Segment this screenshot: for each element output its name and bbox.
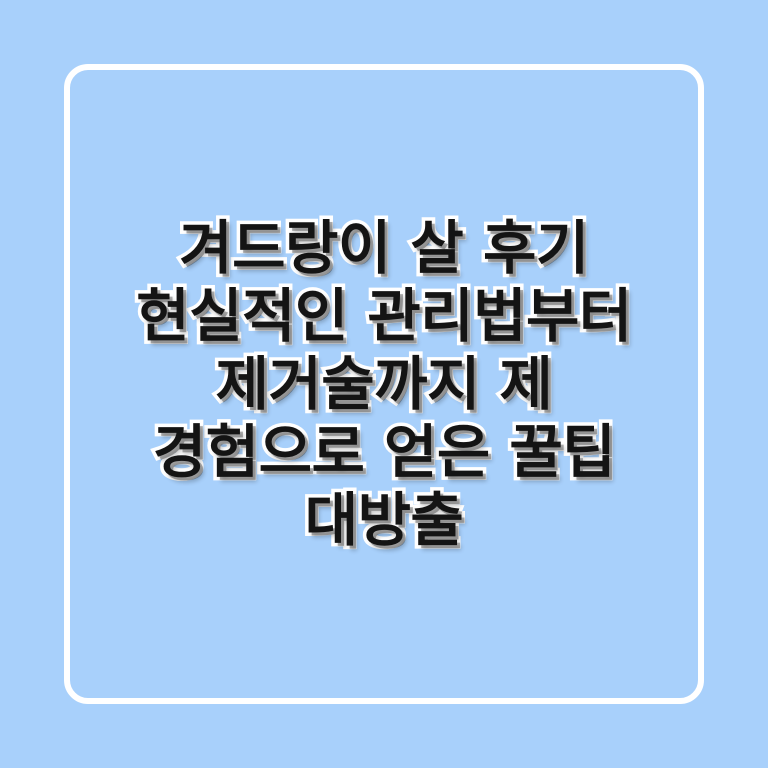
headline-line-2: 현실적인 관리법부터 xyxy=(80,282,688,350)
headline-line-5: 대방출 xyxy=(80,486,688,554)
headline-line-4: 경험으로 얻은 꿀팁 xyxy=(80,418,688,486)
headline-line-3: 제거술까지 제 xyxy=(80,350,688,418)
promo-card: 겨드랑이 살 후기 현실적인 관리법부터 제거술까지 제 경험으로 얻은 꿀팁 … xyxy=(0,0,768,768)
headline-line-1: 겨드랑이 살 후기 xyxy=(80,214,688,282)
headline-block: 겨드랑이 살 후기 현실적인 관리법부터 제거술까지 제 경험으로 얻은 꿀팁 … xyxy=(0,0,768,768)
